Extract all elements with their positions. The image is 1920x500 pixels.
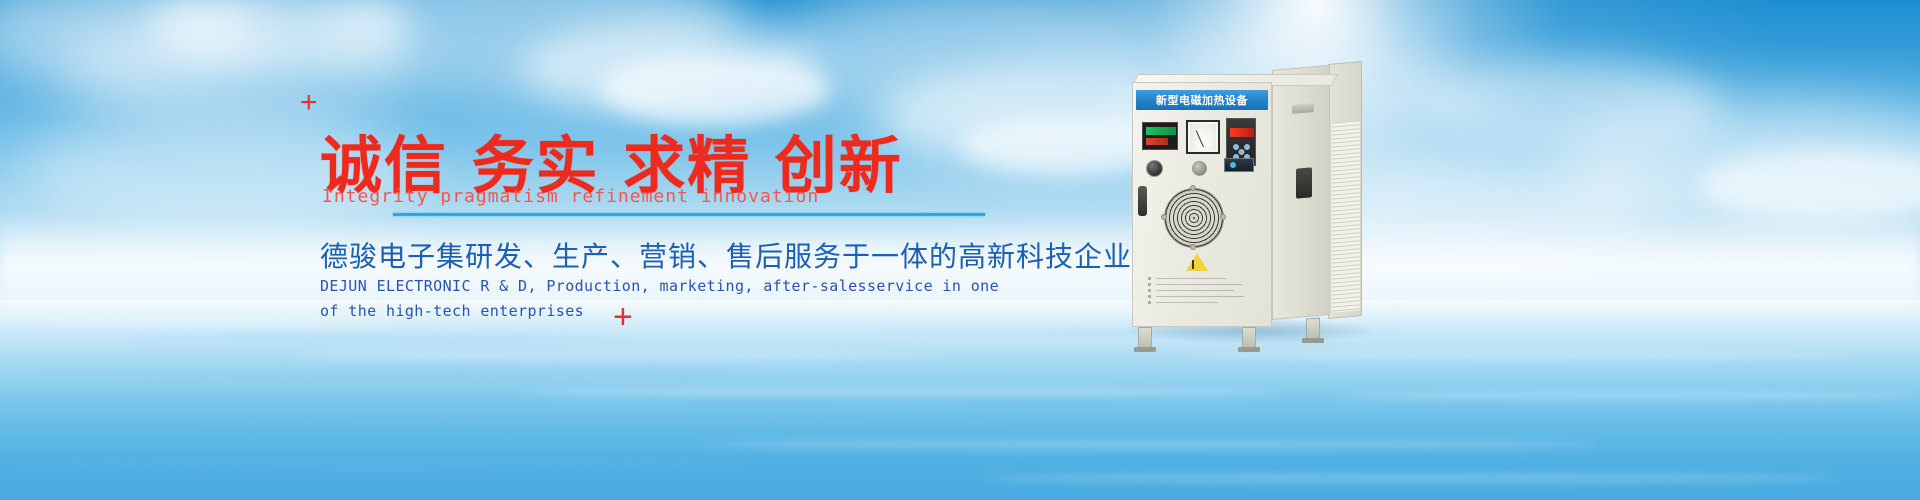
- vent-slats: [1332, 120, 1360, 312]
- high-voltage-warning-triangle-icon: [1186, 253, 1208, 271]
- hero-banner: + 诚信 务实 求精 创新 Integrity pragmatism refin…: [0, 0, 1920, 500]
- spec-label-lines: [1156, 278, 1248, 308]
- banner-copy-block: + 诚信 务实 求精 创新 Integrity pragmatism refin…: [0, 0, 1920, 500]
- control-knob-icon: [1146, 160, 1163, 177]
- power-rocker-switch-icon: [1224, 158, 1254, 172]
- machine-leg: [1242, 327, 1256, 349]
- spec-text-line: [1156, 284, 1242, 285]
- fan-screw: [1190, 244, 1196, 250]
- plus-decoration-icon: +: [300, 88, 318, 118]
- spec-text-line: [1156, 290, 1234, 291]
- machine-foot: [1302, 338, 1324, 343]
- side-recessed-handle: [1292, 103, 1314, 114]
- warning-symbol-mark: [1192, 260, 1194, 269]
- plus-decoration-icon: +: [613, 300, 633, 334]
- fan-screw: [1220, 214, 1226, 220]
- banner-description-line-1: DEJUN ELECTRONIC R & D, Production, mark…: [320, 277, 999, 295]
- switch-indicator-light: [1230, 162, 1236, 168]
- door-handle-icon: [1138, 186, 1147, 216]
- product-label-text: 新型电磁加热设备: [1156, 92, 1248, 108]
- spec-bullet: [1148, 289, 1151, 292]
- divider-line: [393, 213, 985, 216]
- led-display: [1230, 128, 1254, 137]
- display-segment-red: [1146, 138, 1168, 145]
- spec-bullet: [1148, 283, 1151, 286]
- spec-bullet: [1148, 301, 1151, 304]
- machine-leg: [1138, 327, 1152, 349]
- product-image-heating-machine: 新型电磁加热设备: [1120, 60, 1440, 360]
- machine-foot: [1134, 347, 1156, 352]
- spec-bullet: [1148, 295, 1151, 298]
- machine-vent-column: [1328, 61, 1362, 319]
- banner-description-line-2: of the high-tech enterprises: [320, 302, 584, 320]
- digital-temperature-controller-icon: [1142, 122, 1178, 150]
- spec-bullet: [1148, 277, 1151, 280]
- banner-subtitle-english: Integrity pragmatism refinement innovati…: [322, 186, 819, 207]
- spec-text-line: [1156, 296, 1244, 297]
- fan-screw: [1190, 185, 1196, 191]
- spec-text-line: [1156, 278, 1226, 279]
- analog-ammeter-icon: [1186, 120, 1220, 154]
- control-knob-icon: [1192, 161, 1207, 176]
- spec-list-bullets: [1148, 277, 1151, 307]
- spec-text-line: [1156, 302, 1218, 303]
- display-segment-green: [1146, 127, 1176, 135]
- fan-screw: [1161, 214, 1167, 220]
- cooling-fan-grille-icon: [1164, 188, 1224, 248]
- side-access-panel: [1296, 167, 1312, 198]
- banner-tagline-chinese: 德骏电子集研发、生产、营销、售后服务于一体的高新科技企业: [320, 235, 1132, 275]
- machine-foot: [1238, 347, 1260, 352]
- product-brand-label: 新型电磁加热设备: [1136, 90, 1268, 110]
